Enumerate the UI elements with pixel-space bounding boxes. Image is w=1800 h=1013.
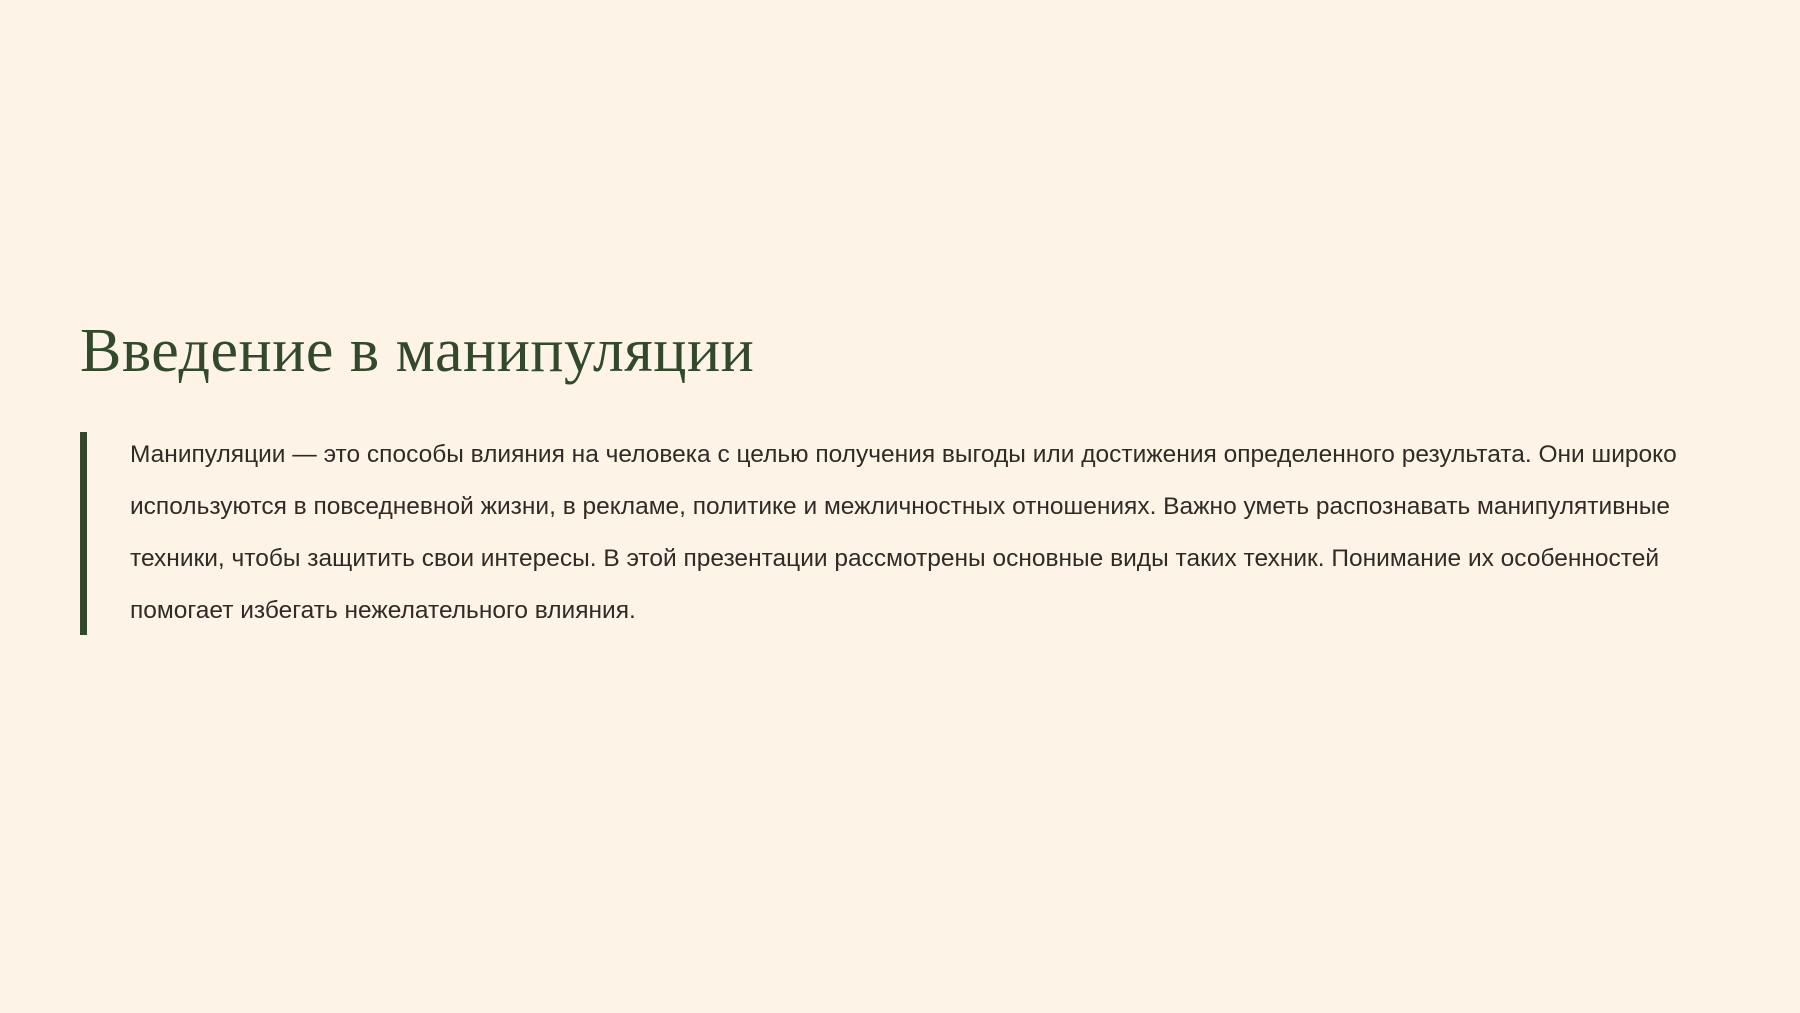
body-quote-block: Манипуляции — это способы влияния на чел…: [80, 429, 1720, 637]
presentation-slide: Введение в манипуляции Манипуляции — это…: [0, 0, 1800, 1013]
accent-bar: [80, 432, 87, 635]
page-title: Введение в манипуляции: [80, 318, 1720, 385]
body-paragraph: Манипуляции — это способы влияния на чел…: [130, 429, 1720, 637]
slide-content: Введение в манипуляции Манипуляции — это…: [80, 318, 1720, 637]
